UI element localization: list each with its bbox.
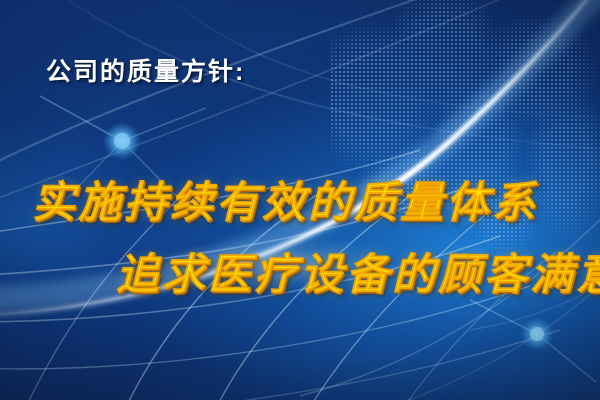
quality-policy-banner: 公司的质量方针: 实施持续有效的质量体系 追求医疗设备的顾客满意: [0, 0, 600, 400]
policy-heading: 公司的质量方针:: [46, 52, 245, 88]
slogan-line-2: 追求医疗设备的顾客满意: [116, 240, 600, 302]
slogan-line-1: 实施持续有效的质量体系: [32, 168, 538, 230]
text-content: 公司的质量方针: 实施持续有效的质量体系 追求医疗设备的顾客满意: [0, 0, 600, 400]
